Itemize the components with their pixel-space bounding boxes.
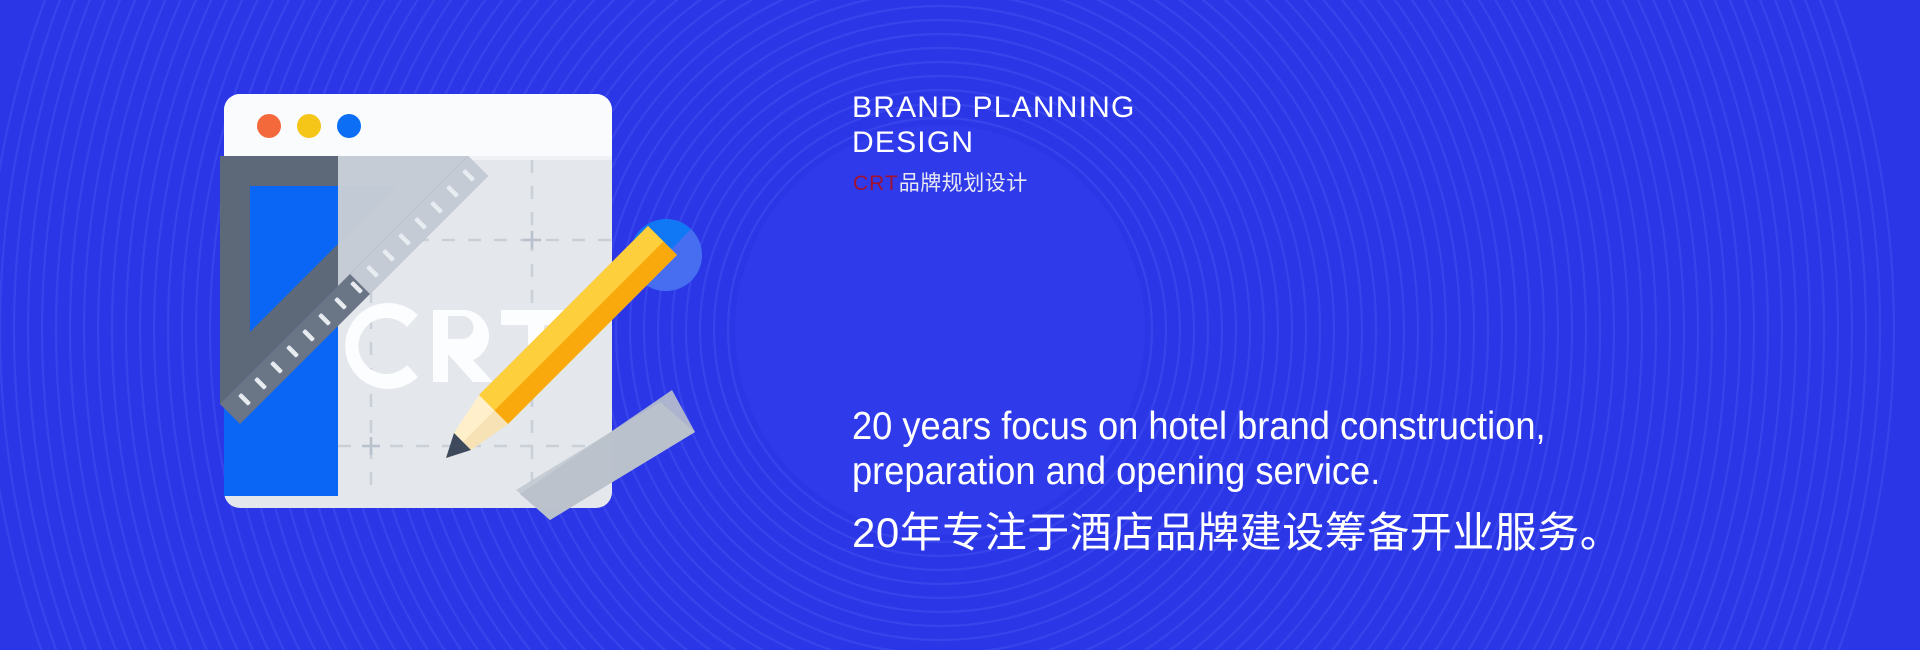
eyebrow-subtitle-text: 品牌规划设计 xyxy=(899,172,1028,195)
maximize-dot-icon[interactable] xyxy=(337,114,361,138)
close-dot-icon[interactable] xyxy=(257,114,281,138)
eyebrow-title: BRAND PLANNING DESIGN xyxy=(852,90,1372,160)
window-title-bar xyxy=(224,94,612,160)
brand-design-illustration xyxy=(220,60,860,580)
headline-english: 20 years focus on hotel brand constructi… xyxy=(852,404,1624,494)
crt-brand-mark: CRT xyxy=(853,172,899,195)
brand-banner: BRAND PLANNING DESIGN CRT品牌规划设计 20 years… xyxy=(0,0,1920,650)
minimize-dot-icon[interactable] xyxy=(297,114,321,138)
headline-chinese: 20年专注于酒店品牌建设筹备开业服务。 xyxy=(852,506,1622,560)
eyebrow-subtitle: CRT品牌规划设计 xyxy=(853,172,1028,196)
banner-copy-column: BRAND PLANNING DESIGN CRT品牌规划设计 20 years… xyxy=(852,0,1752,650)
